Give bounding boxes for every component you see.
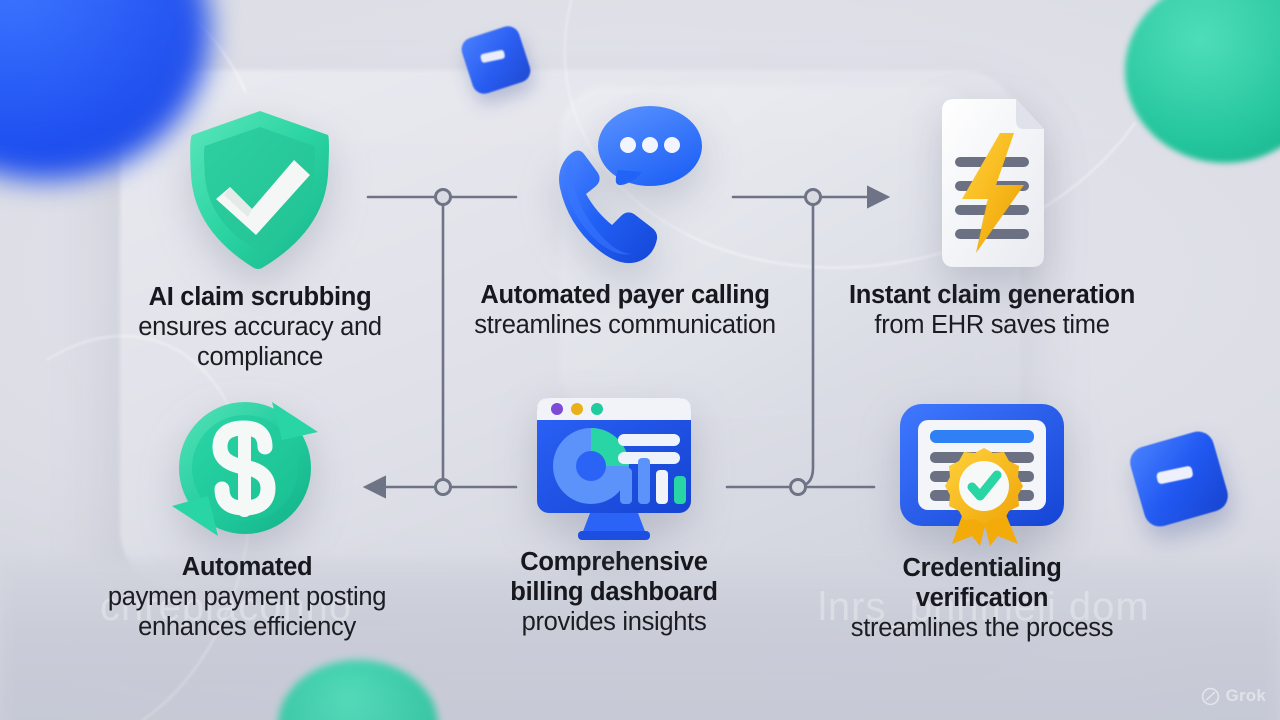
feature-subtitle-line-1: paymen payment posting bbox=[47, 583, 447, 613]
feature-title: Automated bbox=[47, 553, 447, 583]
feature-title-line-1: Credentialing bbox=[782, 554, 1182, 584]
feature-grid: AI claim scrubbing ensures accuracy and … bbox=[0, 0, 1280, 720]
feature-subtitle-line-1: ensures accuracy and bbox=[60, 313, 460, 343]
feature-title-line-2: billing dashboard bbox=[414, 578, 814, 608]
shield-check-icon bbox=[60, 95, 460, 275]
feature-card-comprehensive-billing-dashboard[interactable]: Comprehensive billing dashboard provides… bbox=[414, 372, 814, 637]
feature-text-automated-payer-calling: Automated payer calling streamlines comm… bbox=[425, 281, 825, 341]
feature-card-credentialing-verification[interactable]: Credentialing verification streamlines t… bbox=[782, 378, 1182, 643]
feature-title: Automated payer calling bbox=[425, 281, 825, 311]
feature-subtitle-line-2: compliance bbox=[60, 343, 460, 373]
phone-chat-bubble-icon bbox=[425, 88, 825, 273]
feature-subtitle-line-1: from EHR saves time bbox=[792, 311, 1192, 341]
feature-title-line-1: Comprehensive bbox=[414, 548, 814, 578]
dashboard-monitor-icon bbox=[414, 372, 814, 540]
feature-card-instant-claim-generation[interactable]: Instant claim generation from EHR saves … bbox=[792, 78, 1192, 341]
feature-subtitle-line-1: streamlines the process bbox=[782, 614, 1182, 644]
feature-text-automated-payment-posting: Automated paymen payment posting enhance… bbox=[47, 553, 447, 642]
feature-subtitle-line-1: streamlines communication bbox=[425, 311, 825, 341]
feature-title: AI claim scrubbing bbox=[60, 283, 460, 313]
feature-subtitle-line-2: enhances efficiency bbox=[47, 613, 447, 643]
feature-text-ai-claim-scrubbing: AI claim scrubbing ensures accuracy and … bbox=[60, 283, 460, 372]
feature-card-automated-payment-posting[interactable]: Automated paymen payment posting enhance… bbox=[47, 375, 447, 642]
document-lightning-icon bbox=[792, 78, 1192, 273]
feature-text-comprehensive-billing-dashboard: Comprehensive billing dashboard provides… bbox=[414, 548, 814, 637]
certificate-badge-icon bbox=[782, 378, 1182, 546]
dollar-coin-refresh-icon bbox=[47, 375, 447, 545]
feature-text-instant-claim-generation: Instant claim generation from EHR saves … bbox=[792, 281, 1192, 341]
feature-title-line-2: verification bbox=[782, 584, 1182, 614]
feature-card-ai-claim-scrubbing[interactable]: AI claim scrubbing ensures accuracy and … bbox=[60, 95, 460, 372]
feature-subtitle-line-1: provides insights bbox=[414, 608, 814, 638]
feature-card-automated-payer-calling[interactable]: Automated payer calling streamlines comm… bbox=[425, 88, 825, 341]
feature-text-credentialing-verification: Credentialing verification streamlines t… bbox=[782, 554, 1182, 643]
feature-title: Instant claim generation bbox=[792, 281, 1192, 311]
